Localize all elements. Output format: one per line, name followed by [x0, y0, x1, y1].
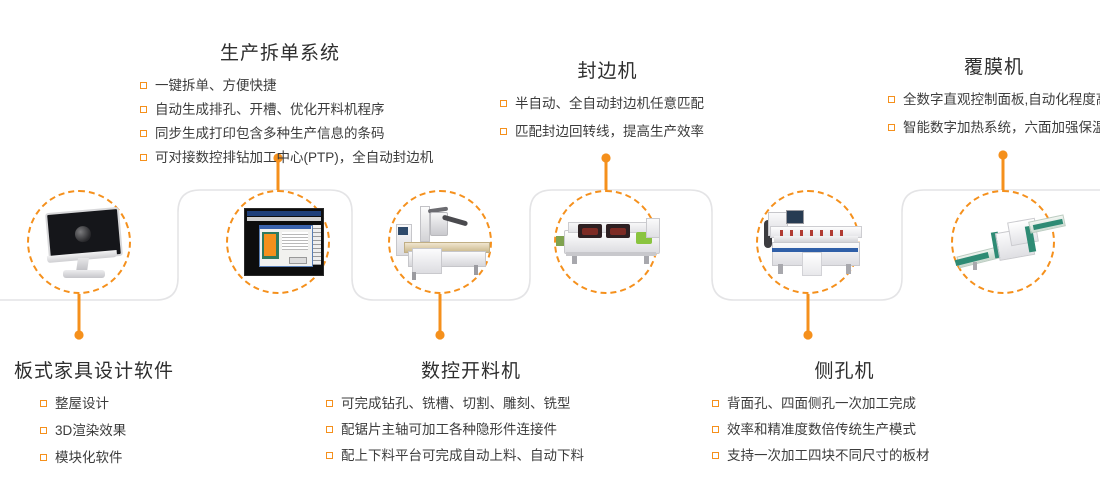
feature-text: 支持一次加工四块不同尺寸的板材 — [727, 445, 930, 467]
checkbox-icon — [40, 427, 47, 434]
list-item: 自动生成排孔、开槽、优化开料机程序 — [140, 99, 420, 121]
block-production-split-system: 生产拆单系统 一键拆单、方便快捷 自动生成排孔、开槽、优化开料机程序 同步生成打… — [140, 38, 420, 171]
cnc-router-icon — [390, 196, 490, 288]
list-item: 模块化软件 — [40, 447, 234, 469]
edge-bander-icon — [556, 196, 656, 288]
checkbox-icon — [140, 82, 147, 89]
checkbox-icon — [712, 426, 719, 433]
feature-text: 可对接数控排钻加工中心(PTP)，全自动封边机 — [155, 147, 433, 169]
block-edge-banding-machine: 封边机 半自动、全自动封边机任意匹配 匹配封边回转线，提高生产效率 — [500, 56, 715, 145]
checkbox-icon — [500, 128, 507, 135]
feature-text: 全数字直观控制面板,自动化程度高 — [903, 89, 1100, 111]
list-item: 可完成钻孔、铣槽、切割、雕刻、铣型 — [326, 393, 616, 415]
list-item: 配上下料平台可完成自动上料、自动下料 — [326, 445, 616, 467]
desktop-computer-icon — [29, 196, 129, 288]
node-edge-banding-machine[interactable] — [554, 190, 658, 294]
list-item: 整屋设计 — [40, 393, 234, 415]
feature-list: 整屋设计 3D渲染效果 模块化软件 — [14, 393, 234, 469]
feature-text: 智能数字加热系统，六面加强保温 — [903, 117, 1100, 139]
list-item: 可对接数控排钻加工中心(PTP)，全自动封边机 — [140, 147, 420, 169]
list-item: 效率和精准度数倍传统生产模式 — [712, 419, 977, 441]
feature-text: 整屋设计 — [55, 393, 109, 415]
block-title: 侧孔机 — [712, 356, 977, 383]
feature-text: 配锯片主轴可加工各种隐形件连接件 — [341, 419, 557, 441]
feature-text: 模块化软件 — [55, 447, 123, 469]
feature-text: 配上下料平台可完成自动上料、自动下料 — [341, 445, 584, 467]
checkbox-icon — [140, 154, 147, 161]
node-split-system[interactable] — [226, 190, 330, 294]
checkbox-icon — [40, 400, 47, 407]
checkbox-icon — [888, 124, 895, 131]
checkbox-icon — [500, 100, 507, 107]
checkbox-icon — [326, 400, 333, 407]
checkbox-icon — [712, 452, 719, 459]
feature-list: 一键拆单、方便快捷 自动生成排孔、开槽、优化开料机程序 同步生成打印包含多种生产… — [140, 75, 420, 169]
list-item: 配锯片主轴可加工各种隐形件连接件 — [326, 419, 616, 441]
list-item: 支持一次加工四块不同尺寸的板材 — [712, 445, 977, 467]
side-drilling-machine-icon — [758, 196, 858, 288]
block-cnc-cutting-machine: 数控开料机 可完成钻孔、铣槽、切割、雕刻、铣型 配锯片主轴可加工各种隐形件连接件… — [326, 356, 616, 469]
node-side-hole-machine[interactable] — [756, 190, 860, 294]
block-title: 封边机 — [500, 56, 715, 83]
feature-list: 全数字直观控制面板,自动化程度高 智能数字加热系统，六面加强保温 — [888, 89, 1100, 139]
checkbox-icon — [140, 130, 147, 137]
block-title: 覆膜机 — [888, 52, 1100, 79]
feature-text: 背面孔、四面侧孔一次加工完成 — [727, 393, 916, 415]
block-title: 生产拆单系统 — [140, 38, 420, 65]
list-item: 全数字直观控制面板,自动化程度高 — [888, 89, 1100, 111]
list-item: 同步生成打印包含多种生产信息的条码 — [140, 123, 420, 145]
list-item: 匹配封边回转线，提高生产效率 — [500, 121, 715, 143]
feature-text: 一键拆单、方便快捷 — [155, 75, 277, 97]
block-title: 板式家具设计软件 — [14, 356, 234, 383]
checkbox-icon — [40, 454, 47, 461]
feature-text: 匹配封边回转线，提高生产效率 — [515, 121, 704, 143]
node-laminating-machine[interactable] — [951, 190, 1055, 294]
node-cnc-cutting-machine[interactable] — [388, 190, 492, 294]
node-design-software[interactable] — [27, 190, 131, 294]
feature-text: 3D渲染效果 — [55, 420, 126, 442]
checkbox-icon — [140, 106, 147, 113]
feature-text: 同步生成打印包含多种生产信息的条码 — [155, 123, 385, 145]
checkbox-icon — [712, 400, 719, 407]
software-screen-icon — [228, 196, 328, 288]
list-item: 智能数字加热系统，六面加强保温 — [888, 117, 1100, 139]
feature-text: 效率和精准度数倍传统生产模式 — [727, 419, 916, 441]
list-item: 一键拆单、方便快捷 — [140, 75, 420, 97]
feature-text: 半自动、全自动封边机任意匹配 — [515, 93, 704, 115]
block-side-hole-machine: 侧孔机 背面孔、四面侧孔一次加工完成 效率和精准度数倍传统生产模式 支持一次加工… — [712, 356, 977, 469]
feature-list: 半自动、全自动封边机任意匹配 匹配封边回转线，提高生产效率 — [500, 93, 715, 143]
list-item: 3D渲染效果 — [40, 420, 234, 442]
block-design-software: 板式家具设计软件 整屋设计 3D渲染效果 模块化软件 — [14, 356, 234, 471]
feature-text: 可完成钻孔、铣槽、切割、雕刻、铣型 — [341, 393, 571, 415]
list-item: 背面孔、四面侧孔一次加工完成 — [712, 393, 977, 415]
block-laminating-machine: 覆膜机 全数字直观控制面板,自动化程度高 智能数字加热系统，六面加强保温 — [888, 52, 1100, 141]
feature-list: 可完成钻孔、铣槽、切割、雕刻、铣型 配锯片主轴可加工各种隐形件连接件 配上下料平… — [326, 393, 616, 467]
block-title: 数控开料机 — [326, 356, 616, 383]
checkbox-icon — [326, 452, 333, 459]
workflow-infographic: 生产拆单系统 一键拆单、方便快捷 自动生成排孔、开槽、优化开料机程序 同步生成打… — [0, 0, 1100, 495]
list-item: 半自动、全自动封边机任意匹配 — [500, 93, 715, 115]
feature-list: 背面孔、四面侧孔一次加工完成 效率和精准度数倍传统生产模式 支持一次加工四块不同… — [712, 393, 977, 467]
checkbox-icon — [888, 96, 895, 103]
laminating-machine-icon — [953, 196, 1053, 288]
checkbox-icon — [326, 426, 333, 433]
feature-text: 自动生成排孔、开槽、优化开料机程序 — [155, 99, 385, 121]
